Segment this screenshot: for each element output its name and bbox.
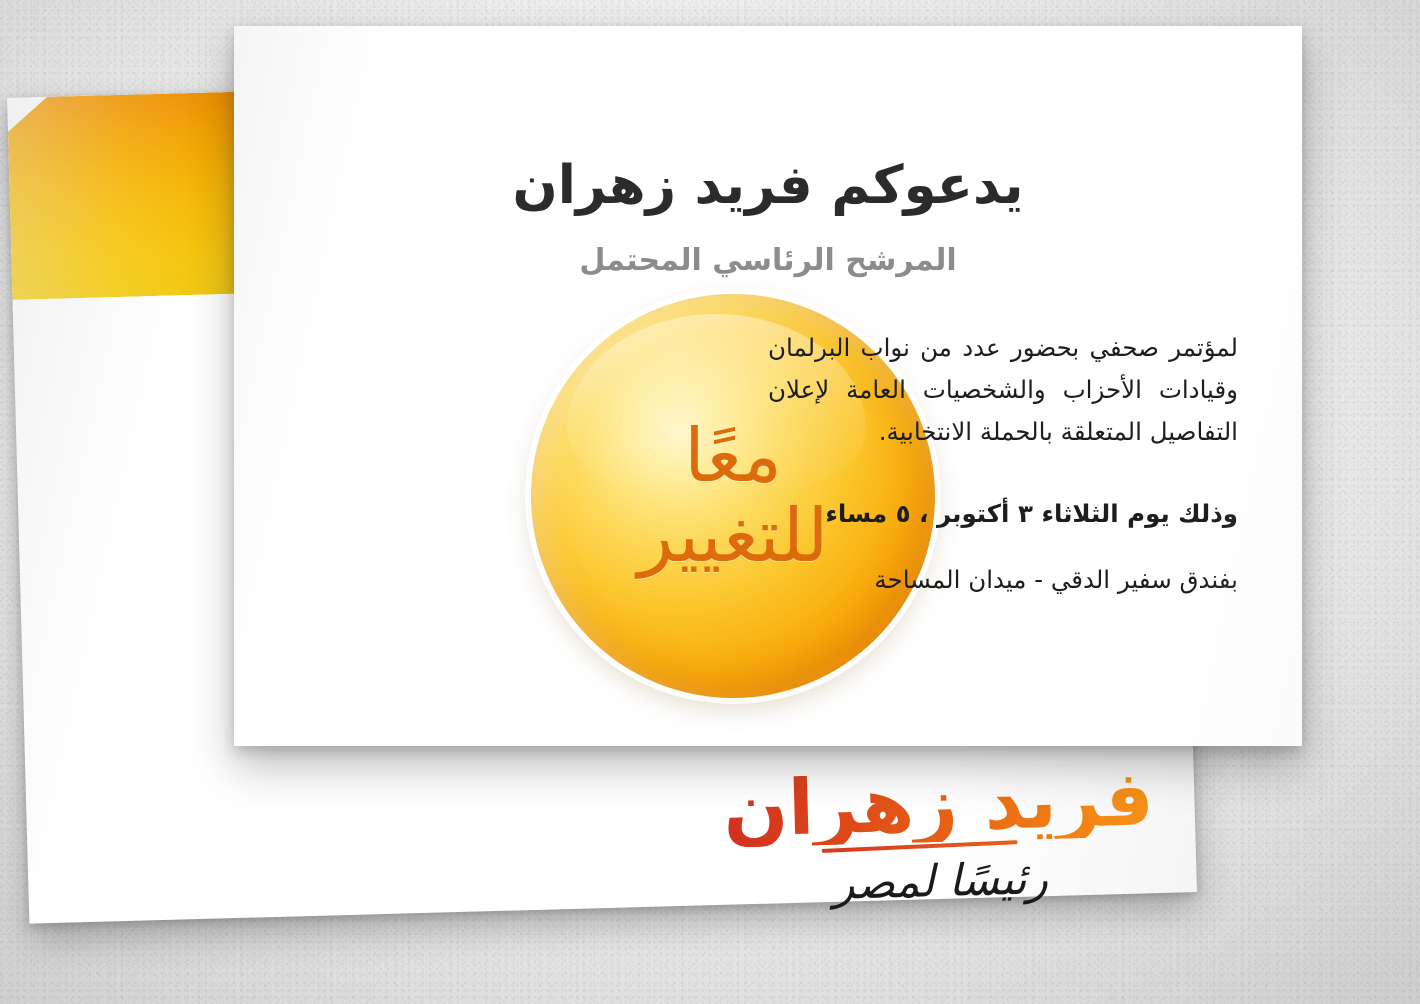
page-subtitle: المرشح الرئاسي المحتمل bbox=[234, 243, 1302, 279]
signature-tagline: رئيسًا لمصر bbox=[700, 852, 1181, 913]
scene: فريد زهران رئيسًا لمصر يدعوكم فريد زهران… bbox=[0, 0, 1420, 1004]
invitation-card: يدعوكم فريد زهران المرشح الرئاسي المحتمل… bbox=[234, 26, 1302, 746]
event-datetime-line: وذلك يوم الثلاثاء ٣ أكتوبر ، ٥ مساء bbox=[768, 493, 1238, 535]
signature-block: فريد زهران رئيسًا لمصر bbox=[698, 760, 1183, 963]
event-venue-line: بفندق سفير الدقي - ميدان المساحة bbox=[768, 559, 1238, 601]
candidate-name-logo: فريد زهران bbox=[698, 760, 1180, 849]
event-details-block: وذلك يوم الثلاثاء ٣ أكتوبر ، ٥ مساء بفند… bbox=[768, 493, 1238, 601]
page-title: يدعوكم فريد زهران bbox=[234, 158, 1302, 214]
invitation-text-column: لمؤتمر صحفي بحضور عدد من نواب البرلمان و… bbox=[768, 302, 1238, 625]
invitation-body-paragraph: لمؤتمر صحفي بحضور عدد من نواب البرلمان و… bbox=[768, 327, 1238, 453]
